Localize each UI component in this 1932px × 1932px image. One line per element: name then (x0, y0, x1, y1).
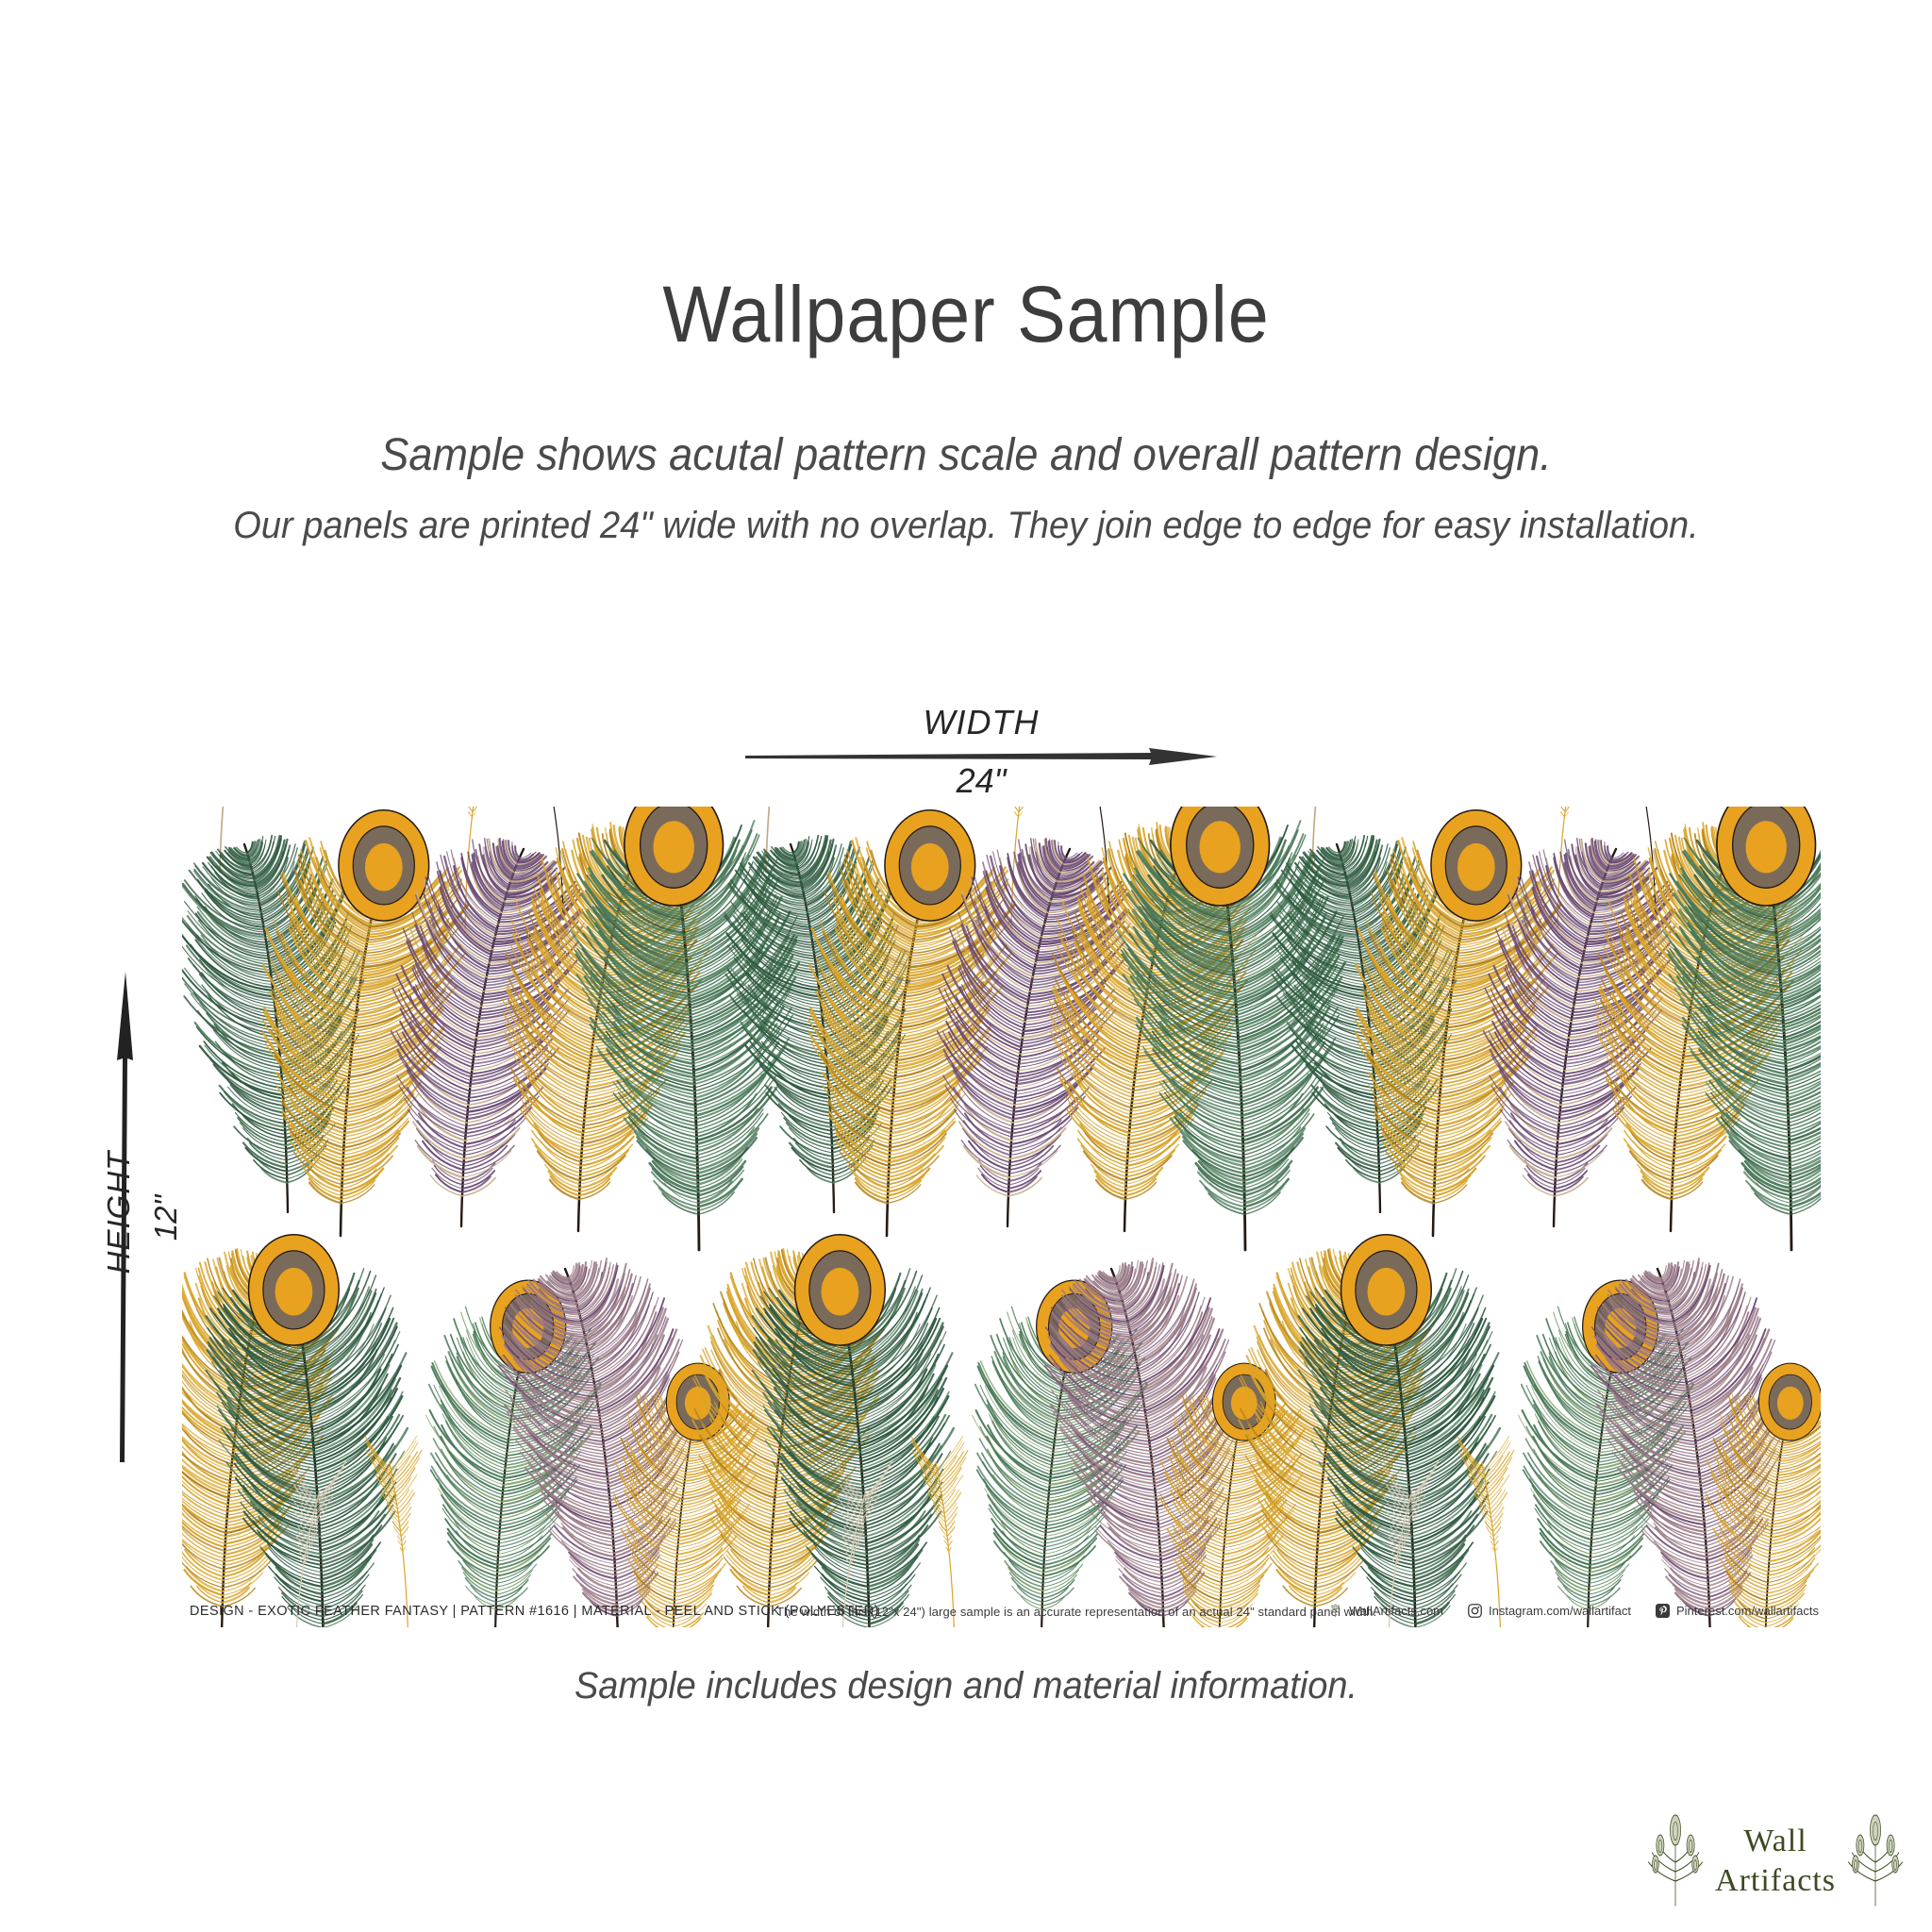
wallartifacts-logo-icon (1328, 1604, 1342, 1618)
height-dimension: HEIGHT 12" (74, 972, 187, 1462)
sample-footer: DESIGN - EXOTIC FEATHER FANTASY | PATTER… (182, 1604, 1821, 1628)
brand-logo-text: Wall Artifacts (1715, 1824, 1836, 1898)
sample-note-text: The width of this (12"x 24") large sampl… (776, 1605, 1376, 1619)
link-pinterest-label: Pinterest.com/wallartifacts (1676, 1604, 1819, 1618)
pattern-preview-panel (182, 807, 1821, 1627)
wallpaper-sample-page: Wallpaper Sample Sample shows acutal pat… (0, 0, 1932, 1932)
link-website-label: WallArtifacts.com (1349, 1604, 1443, 1618)
link-pinterest[interactable]: Pinterest.com/wallartifacts (1656, 1604, 1819, 1618)
link-instagram-label: Instagram.com/wallartifact (1489, 1604, 1631, 1618)
subtitle-primary: Sample shows acutal pattern scale and ov… (58, 429, 1874, 481)
brand-logo: Wall Artifacts (1632, 1792, 1915, 1924)
brand-name-line-1: Wall (1743, 1824, 1807, 1858)
height-value: 12" (148, 1133, 184, 1303)
link-website[interactable]: WallArtifacts.com (1328, 1604, 1443, 1618)
width-dimension: WIDTH 24" (745, 703, 1217, 807)
bottom-caption: Sample includes design and material info… (48, 1665, 1884, 1707)
width-label: WIDTH (745, 703, 1217, 742)
page-title: Wallpaper Sample (77, 269, 1855, 360)
brand-name-line-2: Artifacts (1715, 1863, 1836, 1898)
social-links: WallArtifacts.com Instagram.com/wallarti… (1328, 1604, 1819, 1618)
link-instagram[interactable]: Instagram.com/wallartifact (1468, 1604, 1631, 1618)
instagram-icon (1468, 1604, 1482, 1618)
height-label: HEIGHT (101, 1108, 137, 1316)
subtitle-secondary: Our panels are printed 24" wide with no … (48, 505, 1884, 547)
width-value: 24" (745, 761, 1217, 801)
feather-pattern-artwork (182, 807, 1821, 1627)
pinterest-icon (1656, 1604, 1670, 1618)
